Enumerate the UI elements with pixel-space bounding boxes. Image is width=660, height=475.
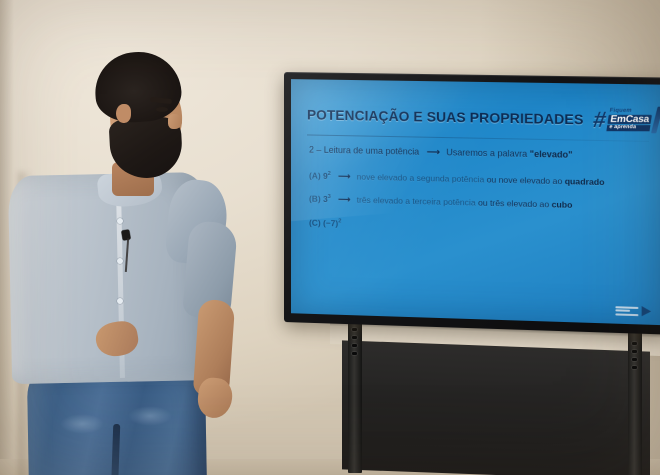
presenter: [0, 22, 250, 475]
screenshot-scene: POTENCIAÇÃO E SUAS PROPRIEDADES # Fiquem…: [0, 0, 660, 475]
item-b-exponent: 3: [328, 195, 331, 201]
campaign-logo-swoosh: [651, 107, 660, 134]
item-a-marker: (A): [309, 171, 321, 181]
stand-post-left: [348, 314, 362, 473]
item-c-marker: (C): [309, 218, 321, 228]
item-b-marker: (B): [309, 194, 321, 204]
school-logo-mark-icon: [642, 306, 651, 317]
item-b-connector: ou: [478, 198, 488, 208]
item-a-keyword: quadrado: [565, 176, 605, 187]
arrow-icon: ⟶: [338, 171, 349, 181]
item-c-base: (−7): [323, 218, 338, 228]
item-a-exponent: 2: [328, 171, 331, 177]
slide-item-a: (A) 92 ⟶ nove elevado a segunda potência…: [309, 171, 649, 189]
lead-result-prefix: Usaremos a palavra: [446, 147, 527, 159]
item-b-reading-faint: três elevado a terceira potência: [357, 195, 476, 208]
presentation-monitor[interactable]: POTENCIAÇÃO E SUAS PROPRIEDADES # Fiquem…: [284, 72, 660, 335]
slide-item-b: (B) 33 ⟶ três elevado a terceira potênci…: [309, 194, 649, 213]
slide-header: POTENCIAÇÃO E SUAS PROPRIEDADES # Fiquem…: [307, 101, 649, 140]
item-a-connector: ou: [487, 174, 497, 184]
monitor-screen[interactable]: POTENCIAÇÃO E SUAS PROPRIEDADES # Fiquem…: [291, 79, 660, 325]
hash-icon: #: [592, 109, 608, 131]
presenter-nose: [168, 114, 182, 129]
school-logo: [615, 305, 651, 316]
lead-keyword: "elevado": [530, 149, 573, 160]
campaign-logo: # Fiquem EmCasa e aprenda: [592, 107, 660, 134]
slide-lead-line: 2 – Leitura de uma potência ⟶ Usaremos a…: [309, 144, 649, 162]
campaign-logo-line2: EmCasa: [608, 115, 652, 125]
presenter-ear: [116, 104, 131, 123]
slide-item-c: (C) (−7)2: [309, 218, 649, 237]
monitor-stand: [330, 316, 660, 475]
presenter-hair: [93, 49, 184, 125]
item-c-exponent: 2: [338, 219, 341, 225]
slide-content: POTENCIAÇÃO E SUAS PROPRIEDADES # Fiquem…: [291, 79, 660, 325]
stand-post-right: [628, 328, 642, 475]
arrow-icon: ⟶: [338, 195, 349, 205]
campaign-logo-line3: e aprenda: [607, 126, 651, 131]
presenter-eye: [156, 107, 168, 112]
lead-topic: Leitura de uma potência: [324, 145, 419, 157]
item-b-reading-clear: três elevado ao: [490, 198, 549, 210]
school-logo-bars: [615, 306, 638, 316]
stand-panel: [342, 340, 650, 475]
item-a-reading-faint: nove elevado a segunda potência: [357, 172, 485, 185]
arrow-icon: ⟶: [427, 147, 439, 157]
lapel-microphone-icon: [121, 229, 131, 240]
lead-number: 2 –: [309, 144, 321, 154]
item-a-reading-clear: nove elevado ao: [499, 175, 563, 187]
item-b-keyword: cubo: [552, 200, 573, 211]
slide-title: POTENCIAÇÃO E SUAS PROPRIEDADES: [307, 107, 583, 127]
